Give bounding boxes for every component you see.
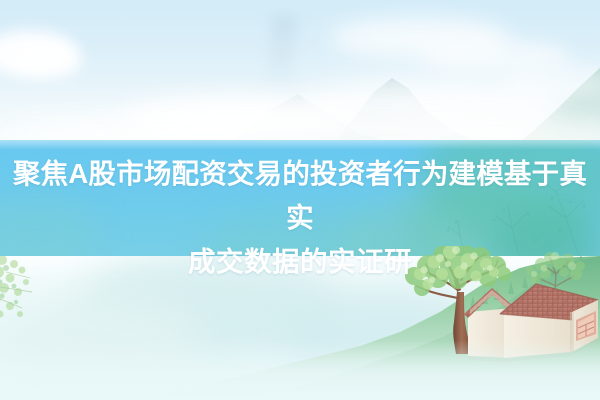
title-line-2: 成交数据的实证研 (0, 240, 600, 284)
banner-image: 聚焦A股市场配资交易的投资者行为建模基于真实 成交数据的实证研 (0, 0, 600, 400)
house (462, 272, 600, 368)
banner-title: 聚焦A股市场配资交易的投资者行为建模基于真实 成交数据的实证研 (0, 152, 600, 284)
band-top-fade (0, 140, 600, 150)
title-line-1: 聚焦A股市场配资交易的投资者行为建模基于真实 (0, 152, 600, 240)
cloud (12, 46, 82, 78)
